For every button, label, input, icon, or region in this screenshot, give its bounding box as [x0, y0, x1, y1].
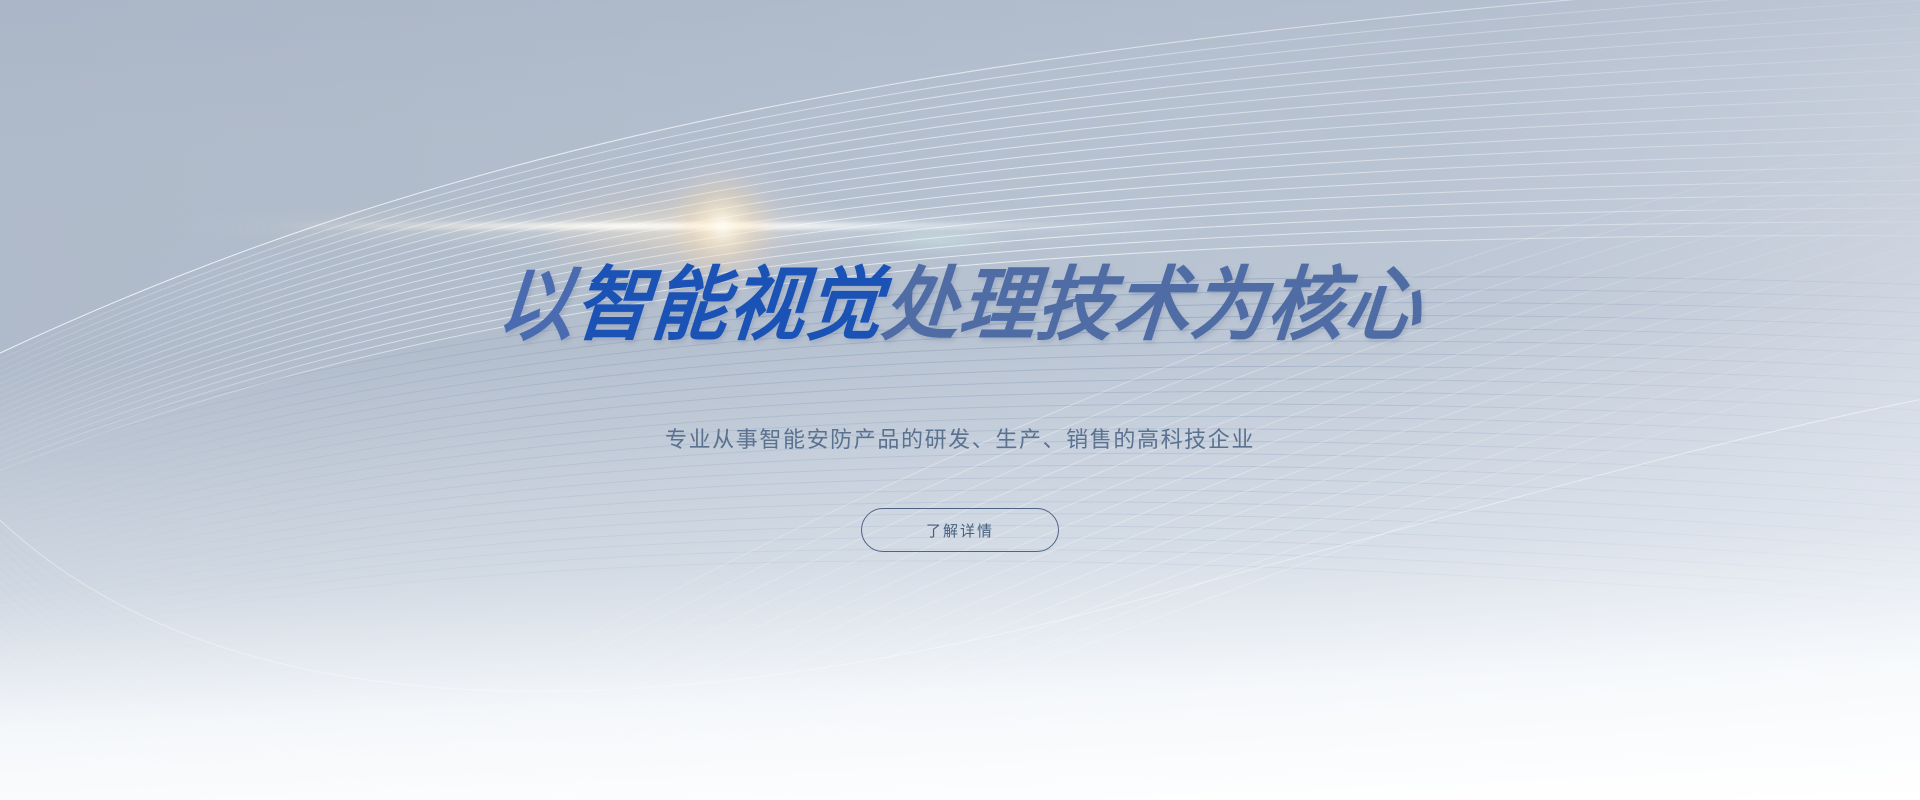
- hero-content: 以智能视觉处理技术为核心 专业从事智能安防产品的研发、生产、销售的高科技企业 了…: [0, 0, 1920, 800]
- headline-segment-b: 智能视觉: [571, 260, 887, 350]
- headline-segment-c: 处理技术为核心: [879, 260, 1426, 350]
- hero-banner: 以智能视觉处理技术为核心 专业从事智能安防产品的研发、生产、销售的高科技企业 了…: [0, 0, 1920, 800]
- headline-segment-a: 以: [494, 260, 579, 350]
- learn-more-button[interactable]: 了解详情: [861, 508, 1059, 552]
- page-title: 以智能视觉处理技术为核心: [0, 266, 1920, 347]
- hero-subtitle: 专业从事智能安防产品的研发、生产、销售的高科技企业: [0, 423, 1920, 457]
- cta-container: 了解详情: [0, 508, 1920, 552]
